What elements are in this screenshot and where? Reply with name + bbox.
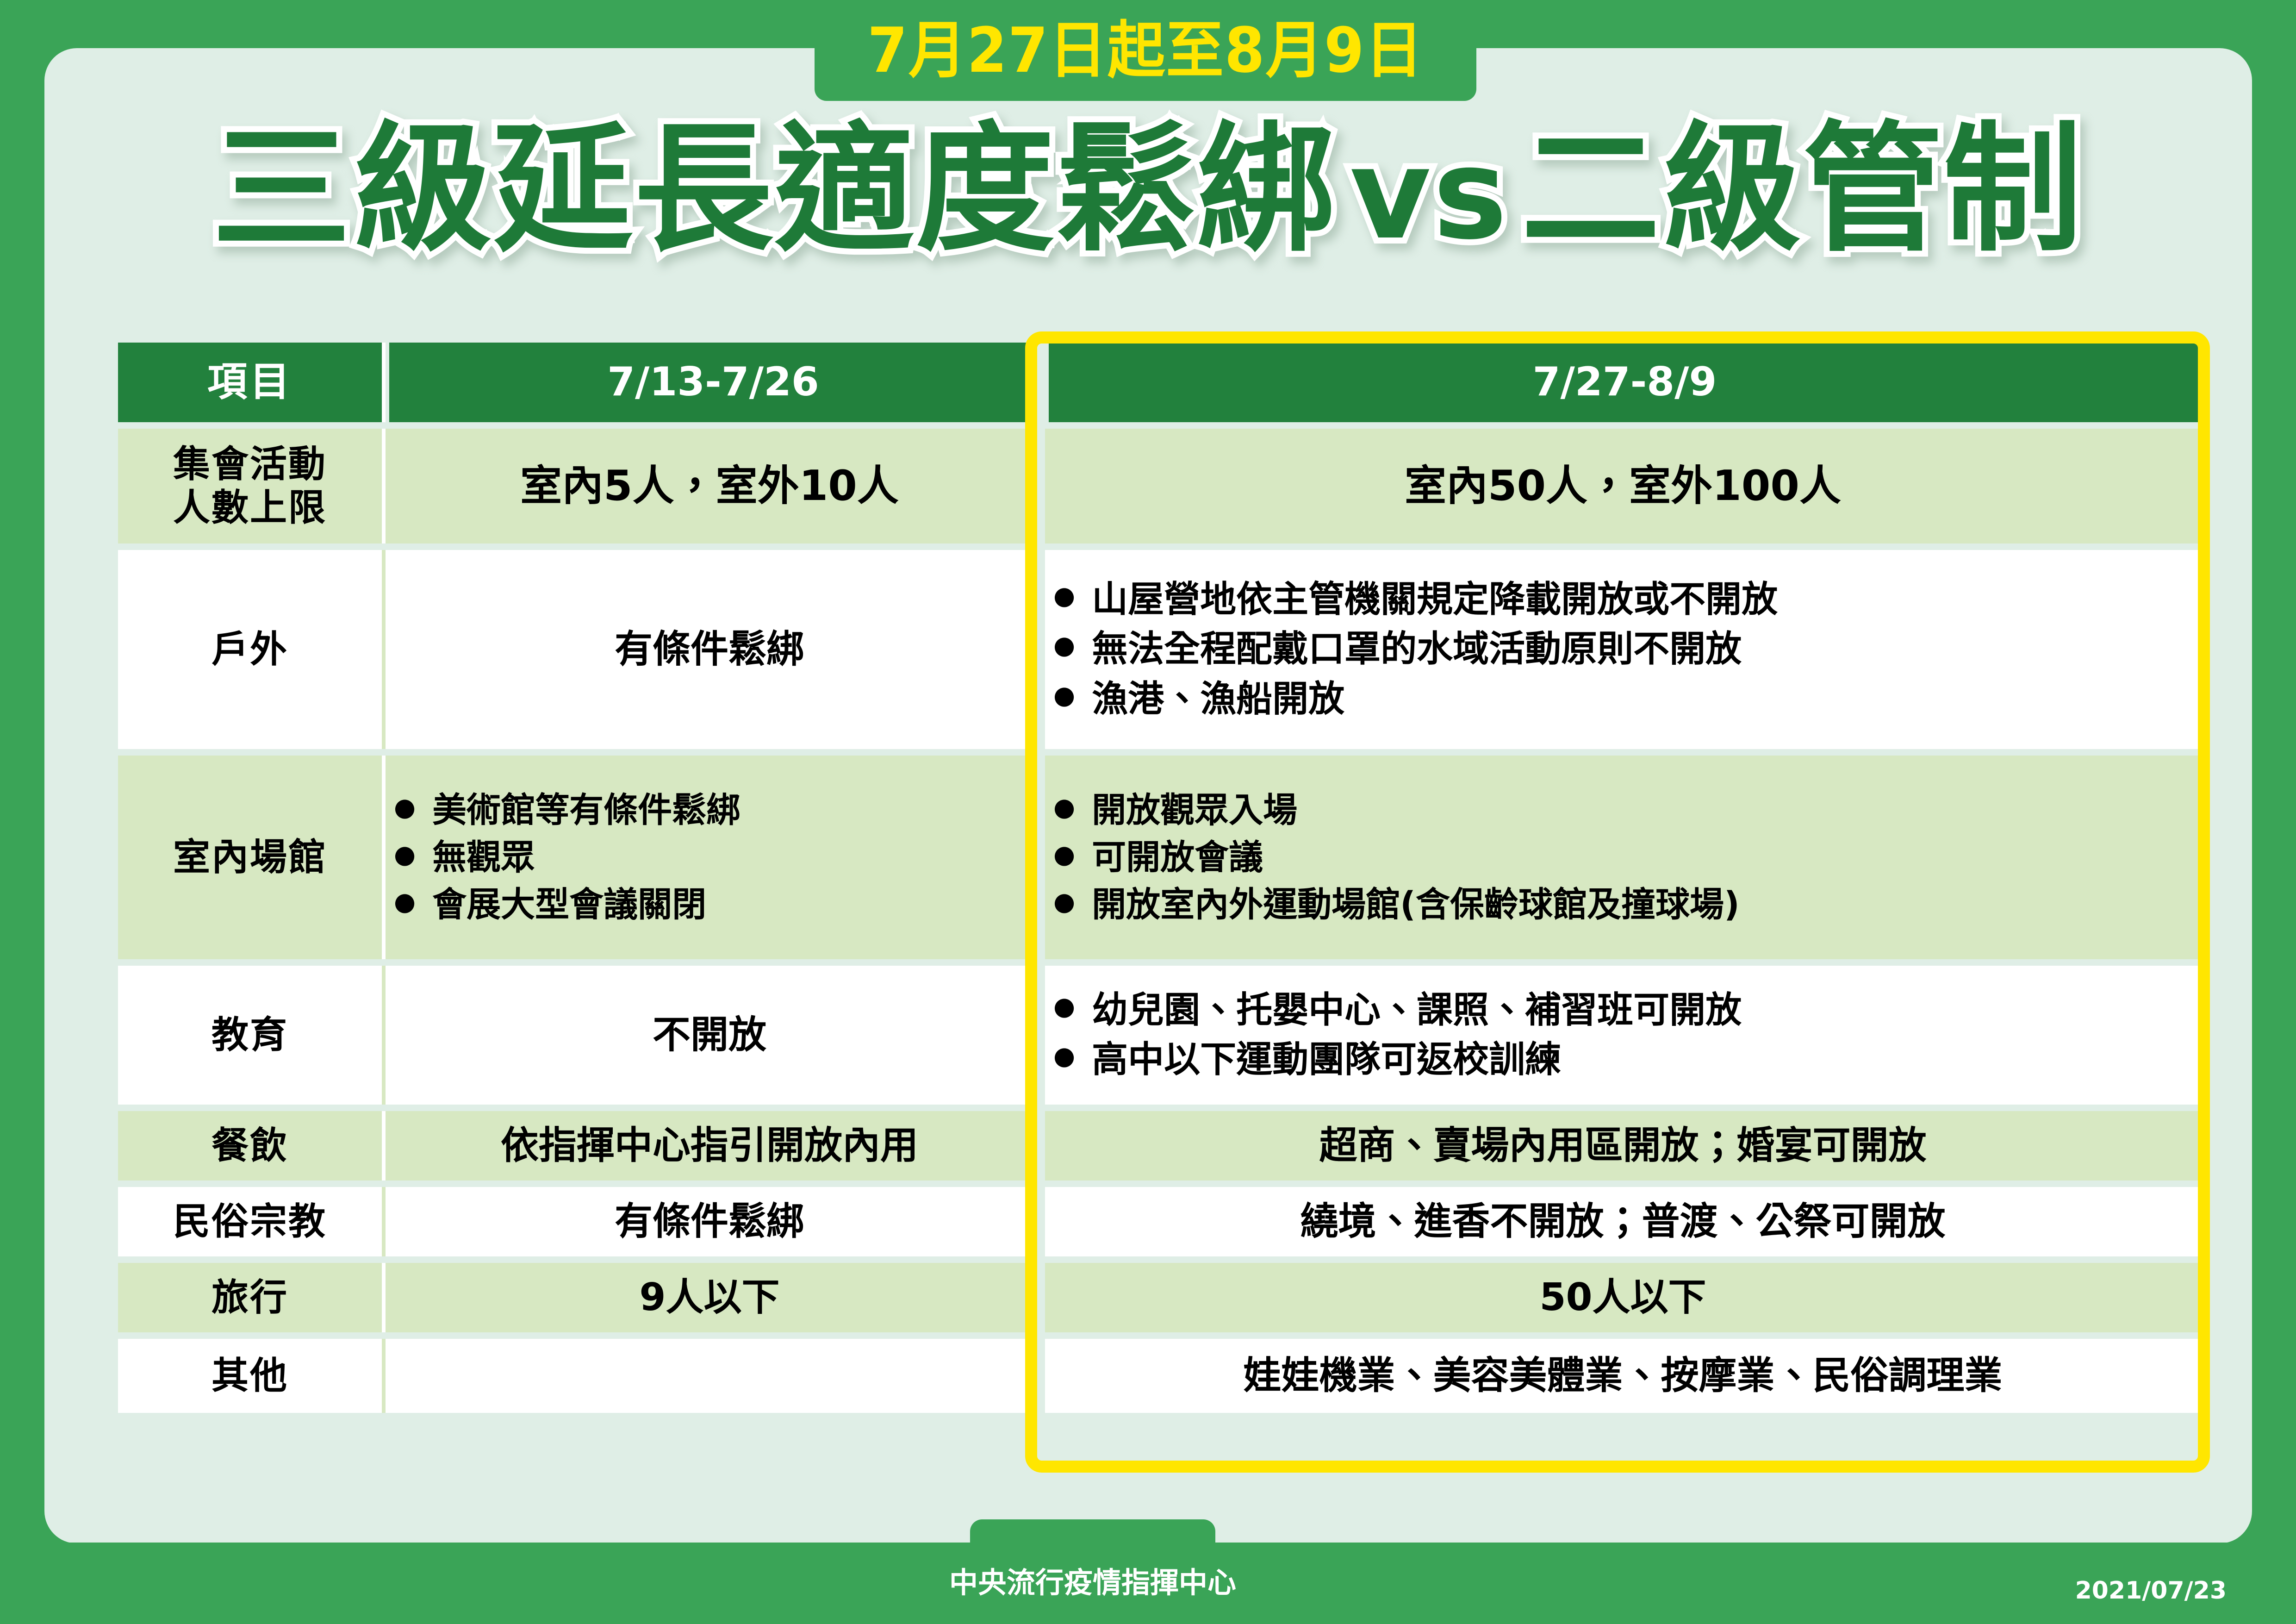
bullet-list-new-indoor-venue: ●開放觀眾入場 ●可開放會議 ●開放室內外運動場館(含保齡球館及撞球場) (1053, 785, 2192, 930)
list-item: ●幼兒園、托嬰中心、課照、補習班可開放 (1053, 987, 2192, 1034)
title-part-1: 三級延長適度鬆綁 (212, 109, 1338, 270)
row-label-education: 教育 (118, 966, 382, 1105)
list-item: ●開放室內外運動場館(含保齡球館及撞球場) (1053, 882, 2192, 927)
cell-new-dining: 超商、賣場內用區開放；婚宴可開放 (1045, 1111, 2201, 1181)
header-cell-new-period: 7/27-8/9 (1049, 343, 2201, 422)
column-divider (382, 343, 386, 422)
cell-old-outdoor: 有條件鬆綁 (386, 550, 1033, 749)
date-range-text: 7月27日起至8月9日 (867, 19, 1424, 81)
comparison-table: 項目 7/13-7/26 7/27-8/9 集會活動人數上限 室內5人，室外10… (118, 343, 2201, 1413)
row-label-dining: 餐飲 (118, 1111, 382, 1181)
list-item: ●可開放會議 (1053, 835, 2192, 880)
bullet-dot-icon: ● (394, 788, 416, 827)
bullet-dot-icon: ● (1053, 676, 1075, 715)
bullet-dot-icon: ● (1053, 835, 1075, 874)
cell-old-dining: 依指揮中心指引開放內用 (386, 1111, 1033, 1181)
list-item: ●高中以下運動團隊可返校訓練 (1053, 1037, 2192, 1083)
cell-new-outdoor: ●山屋營地依主管機關規定降載開放或不開放 ●無法全程配戴口罩的水域活動原則不開放… (1045, 550, 2201, 749)
cell-old-indoor-venue: ●美術館等有條件鬆綁 ●無觀眾 ●會展大型會議關閉 (386, 756, 1033, 959)
bullet-list-old-indoor-venue: ●美術館等有條件鬆綁 ●無觀眾 ●會展大型會議關閉 (394, 785, 1025, 930)
table-row: 集會活動人數上限 室內5人，室外10人 室內50人，室外100人 (118, 429, 2201, 543)
table-row: 其他 娃娃機業、美容美體業、按摩業、民俗調理業 (118, 1339, 2201, 1413)
bullet-dot-icon: ● (1053, 882, 1075, 921)
table-row: 民俗宗教 有條件鬆綁 繞境、進香不開放；普渡、公祭可開放 (118, 1187, 2201, 1256)
date-range-badge: 7月27日起至8月9日 (815, 0, 1476, 101)
cell-new-indoor-venue: ●開放觀眾入場 ●可開放會議 ●開放室內外運動場館(含保齡球館及撞球場) (1045, 756, 2201, 959)
bullet-dot-icon: ● (394, 882, 416, 921)
cell-new-travel: 50人以下 (1045, 1263, 2201, 1332)
row-label-travel: 旅行 (118, 1263, 382, 1332)
bullet-dot-icon: ● (1053, 987, 1075, 1026)
page-title: 三級延長適度鬆綁vs二級管制 (212, 120, 2084, 259)
cell-old-travel: 9人以下 (386, 1263, 1033, 1332)
cell-new-folk-religion: 繞境、進香不開放；普渡、公祭可開放 (1045, 1187, 2201, 1256)
row-label-indoor-venue: 室內場館 (118, 756, 382, 959)
list-item: ●開放觀眾入場 (1053, 788, 2192, 832)
table-row: 教育 不開放 ●幼兒園、托嬰中心、課照、補習班可開放 ●高中以下運動團隊可返校訓… (118, 966, 2201, 1105)
header-cell-item: 項目 (118, 343, 382, 422)
table-row: 室內場館 ●美術館等有條件鬆綁 ●無觀眾 ●會展大型會議關閉 ●開放觀眾入場 ●… (118, 756, 2201, 959)
bullet-dot-icon: ● (394, 835, 416, 874)
poster-root: 7月27日起至8月9日 三級延長適度鬆綁vs二級管制 項目 7/13-7/26 … (0, 0, 2296, 1624)
title-area: 三級延長適度鬆綁vs二級管制 (0, 113, 2296, 266)
list-item: ●美術館等有條件鬆綁 (394, 788, 1025, 832)
bullet-dot-icon: ● (1053, 626, 1075, 665)
footer-org-tab: 中央流行疫情指揮中心 (970, 1519, 1215, 1624)
cell-old-folk-religion: 有條件鬆綁 (386, 1187, 1033, 1256)
list-item: ●無法全程配戴口罩的水域活動原則不開放 (1053, 626, 2192, 673)
bullet-dot-icon: ● (1053, 1037, 1075, 1075)
header-cell-old-period: 7/13-7/26 (389, 343, 1037, 422)
list-item: ●漁港、漁船開放 (1053, 676, 2192, 723)
title-vs: vs (1338, 121, 1521, 267)
bullet-dot-icon: ● (1053, 576, 1075, 615)
cell-old-education: 不開放 (386, 966, 1033, 1105)
cell-old-other (386, 1339, 1033, 1413)
row-label-folk-religion: 民俗宗教 (118, 1187, 382, 1256)
row-label-outdoor: 戶外 (118, 550, 382, 749)
row-label-gathering: 集會活動人數上限 (118, 429, 382, 543)
cell-old-gathering: 室內5人，室外10人 (386, 429, 1033, 543)
list-item: ●會展大型會議關閉 (394, 882, 1025, 927)
row-label-other: 其他 (118, 1339, 382, 1413)
table-header-row: 項目 7/13-7/26 7/27-8/9 (118, 343, 2201, 422)
bullet-list-new-education: ●幼兒園、托嬰中心、課照、補習班可開放 ●高中以下運動團隊可返校訓練 (1053, 984, 2192, 1087)
cell-new-other: 娃娃機業、美容美體業、按摩業、民俗調理業 (1045, 1339, 2201, 1413)
list-item: ●無觀眾 (394, 835, 1025, 880)
list-item: ●山屋營地依主管機關規定降載開放或不開放 (1053, 576, 2192, 623)
footer-org-label: 中央流行疫情指揮中心 (949, 1559, 1236, 1601)
title-part-2: 二級管制 (1521, 109, 2084, 270)
cell-new-education: ●幼兒園、托嬰中心、課照、補習班可開放 ●高中以下運動團隊可返校訓練 (1045, 966, 2201, 1105)
footer-date: 2021/07/23 (2075, 1577, 2227, 1605)
table-row: 旅行 9人以下 50人以下 (118, 1263, 2201, 1332)
table-row: 餐飲 依指揮中心指引開放內用 超商、賣場內用區開放；婚宴可開放 (118, 1111, 2201, 1181)
bullet-list-new-outdoor: ●山屋營地依主管機關規定降載開放或不開放 ●無法全程配戴口罩的水域活動原則不開放… (1053, 574, 2192, 725)
bullet-dot-icon: ● (1053, 788, 1075, 827)
table-row: 戶外 有條件鬆綁 ●山屋營地依主管機關規定降載開放或不開放 ●無法全程配戴口罩的… (118, 550, 2201, 749)
cell-new-gathering: 室內50人，室外100人 (1045, 429, 2201, 543)
